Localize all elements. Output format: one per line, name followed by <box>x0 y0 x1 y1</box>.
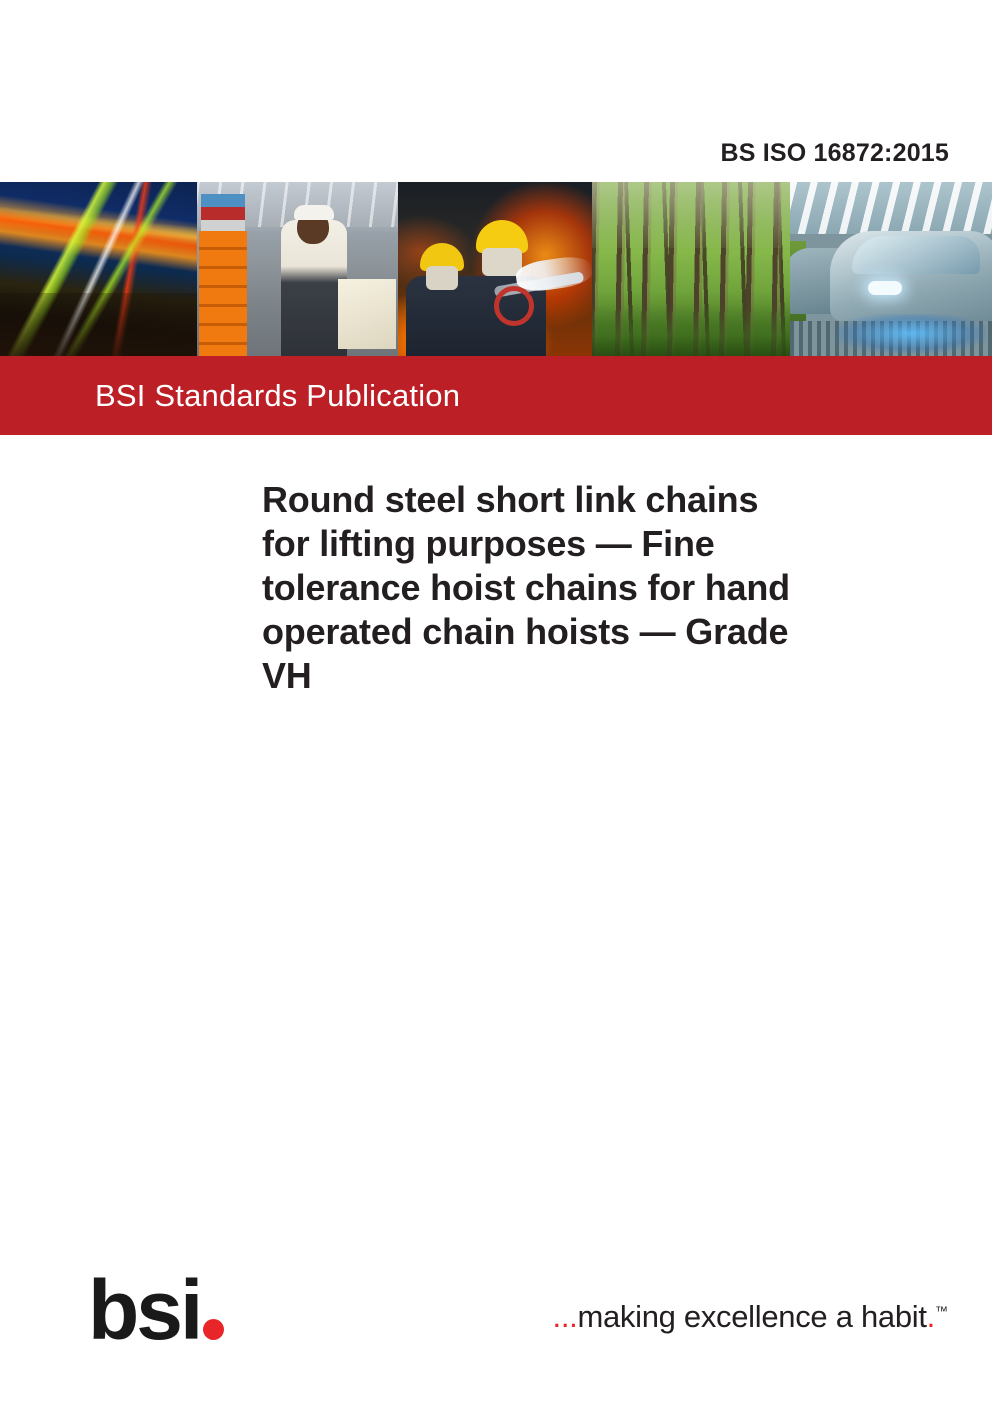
warehouse-box <box>338 279 396 349</box>
warehouse-worker-cap <box>294 205 334 220</box>
page-title-line: tolerance hoist chains for hand <box>262 566 942 610</box>
assembly-ceiling-lights <box>790 182 992 234</box>
car-windshield <box>852 236 980 274</box>
photo-car-assembly-line <box>790 182 992 356</box>
bsi-tagline: ...making excellence a habit.™ <box>553 1299 949 1335</box>
cover-photo-strip <box>0 182 992 356</box>
firefighter-face-left <box>426 266 458 290</box>
warehouse-crate-stack <box>199 231 247 356</box>
document-cover-page: BS ISO 16872:2015 <box>0 0 992 1403</box>
photo-firefighters <box>398 182 592 356</box>
warehouse-crate-top <box>201 194 245 232</box>
page-title: Round steel short link chains for liftin… <box>262 478 942 698</box>
cover-footer: bsi ...making excellence a habit.™ <box>0 1243 992 1403</box>
bsi-logo-dot-icon <box>203 1319 224 1340</box>
page-title-line: VH <box>262 654 942 698</box>
tagline-trademark-icon: ™ <box>935 1304 948 1319</box>
water-spray <box>514 253 592 293</box>
standard-number: BS ISO 16872:2015 <box>720 139 949 168</box>
photo-forest <box>592 182 790 356</box>
page-title-line: operated chain hoists — Grade <box>262 610 942 654</box>
car-headlight <box>868 281 902 295</box>
assembly-blue-glow <box>836 314 986 352</box>
page-title-line: for lifting purposes — Fine <box>262 522 942 566</box>
tagline-period: . <box>927 1299 935 1334</box>
photo-night-traffic-light-trails <box>0 182 197 356</box>
publisher-banner: BSI Standards Publication <box>0 356 992 435</box>
page-title-line: Round steel short link chains <box>262 478 942 522</box>
bsi-logo-wordmark: bsi <box>88 1276 200 1345</box>
bsi-logo: bsi <box>88 1276 224 1345</box>
tagline-leading-ellipsis: ... <box>553 1299 578 1334</box>
tagline-text: making excellence a habit <box>577 1299 926 1334</box>
photo-warehouse-worker <box>197 182 398 356</box>
publisher-banner-label: BSI Standards Publication <box>95 378 460 414</box>
